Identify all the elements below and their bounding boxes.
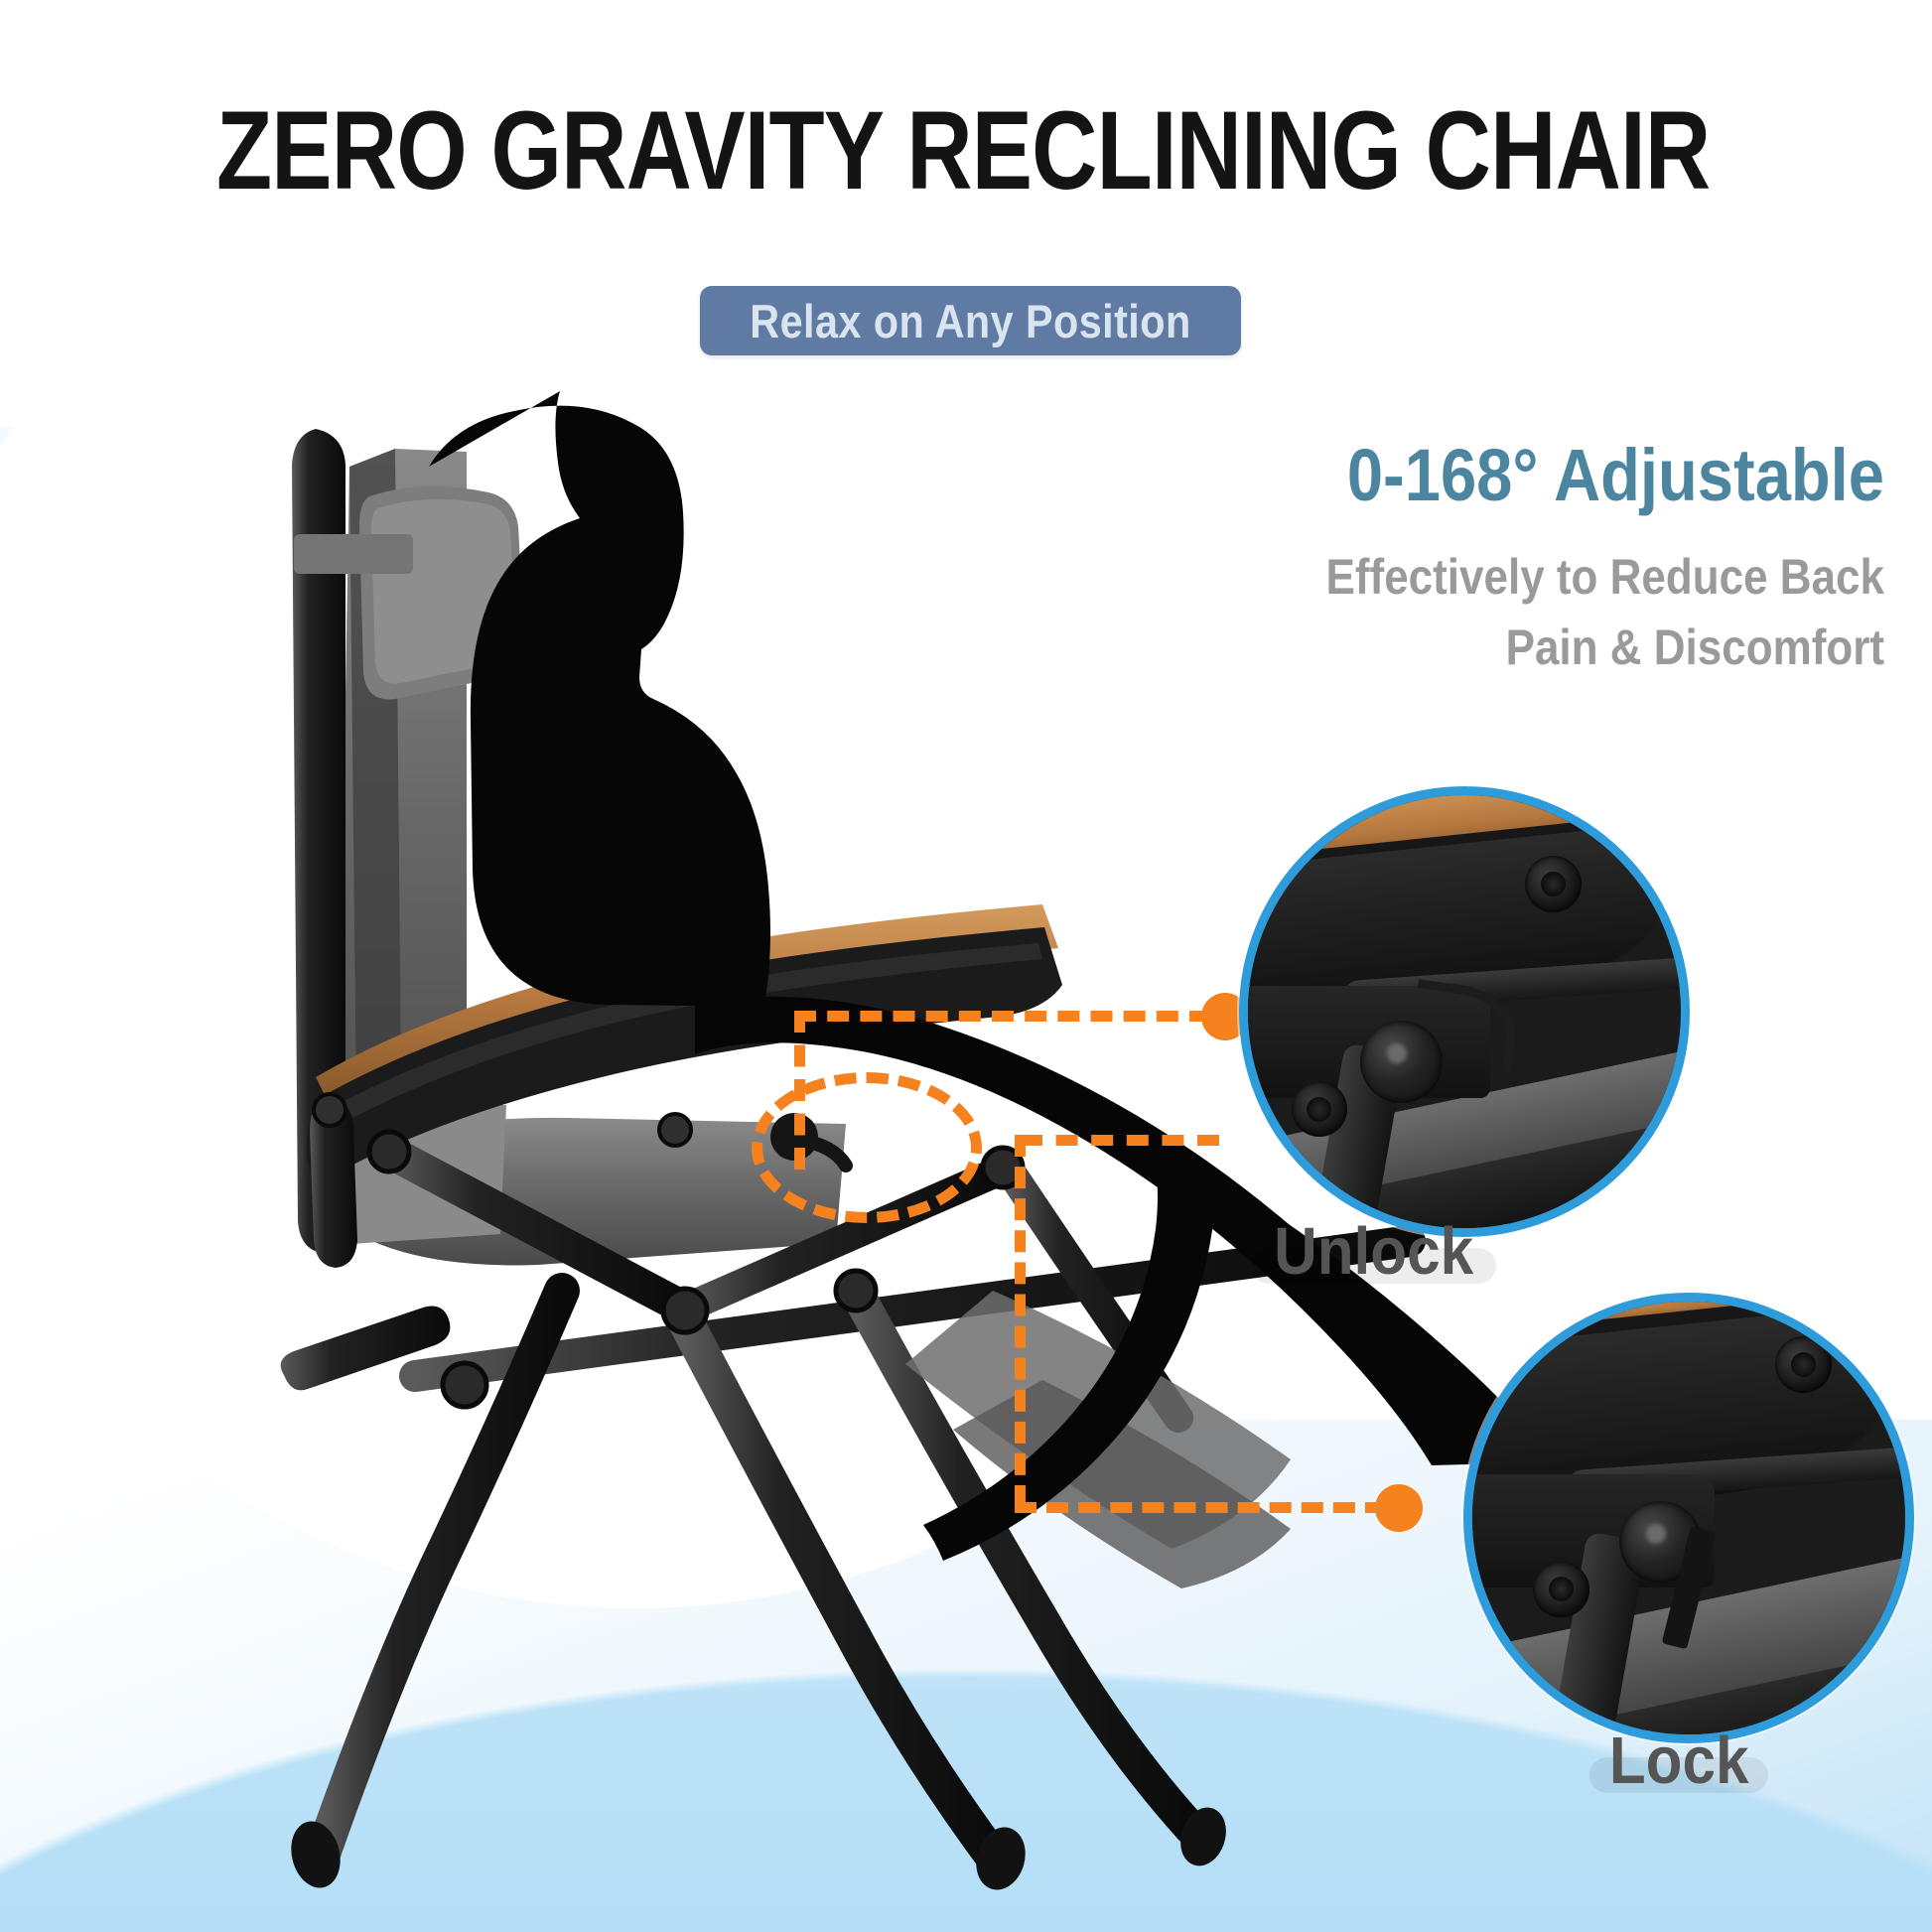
subtitle-badge-label: Relax on Any Position bbox=[750, 294, 1190, 348]
connector-dot-lock bbox=[1375, 1484, 1423, 1532]
callout-unlock-photo bbox=[1248, 795, 1681, 1228]
connector-dash-lock-vertical bbox=[1015, 1135, 1026, 1507]
callout-label-unlock-text: Unlock bbox=[1274, 1213, 1473, 1290]
callout-circle-lock bbox=[1463, 1293, 1914, 1743]
callout-label-unlock: Unlock bbox=[1263, 1213, 1484, 1290]
callout-label-lock: Lock bbox=[1601, 1723, 1756, 1799]
callout-circle-unlock bbox=[1239, 786, 1690, 1237]
feature-subtext: Effectively to Reduce Back Pain & Discom… bbox=[1291, 542, 1884, 683]
highlight-ellipse-lock-lever bbox=[752, 1072, 982, 1223]
feature-text-block: 0-168° Adjustable Effectively to Reduce … bbox=[1209, 437, 1884, 683]
page-title: ZERO GRAVITY RECLINING CHAIR bbox=[216, 95, 1710, 207]
callout-label-lock-text: Lock bbox=[1609, 1723, 1749, 1799]
subtitle-badge: Relax on Any Position bbox=[700, 286, 1241, 355]
connector-dash-unlock-top bbox=[794, 1011, 1211, 1022]
callout-lock-photo bbox=[1472, 1302, 1905, 1734]
product-infographic: ZERO GRAVITY RECLINING CHAIR Relax on An… bbox=[0, 0, 1932, 1932]
connector-dash-lock-mid bbox=[1021, 1135, 1219, 1146]
connector-dash-lock-bottom bbox=[1015, 1502, 1387, 1513]
feature-subtext-line-2: Pain & Discomfort bbox=[1291, 613, 1884, 683]
feature-headline: 0-168° Adjustable bbox=[1291, 437, 1884, 514]
feature-subtext-line-1: Effectively to Reduce Back bbox=[1291, 542, 1884, 613]
